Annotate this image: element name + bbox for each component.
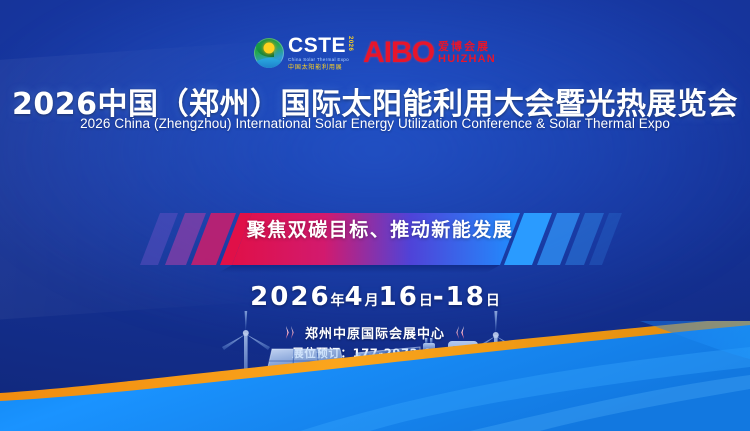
cste-english: China Solar Thermal Expo (288, 58, 353, 63)
bottom-swoosh-decoration (0, 321, 750, 431)
date-day-end-unit: 日 (486, 293, 500, 309)
date-month: 4 (345, 282, 365, 312)
aibo-wordmark: AIBO (363, 38, 434, 68)
page-title-english: 2026 China (Zhengzhou) International Sol… (0, 116, 750, 131)
aibo-logo[interactable]: AIBO 爱博会展 HUIZHAN (363, 38, 496, 68)
date-day-end: 18 (446, 282, 486, 312)
logo-row: CSTE 2026 China Solar Thermal Expo 中国太阳能… (0, 31, 750, 75)
poster-canvas: CSTE 2026 China Solar Thermal Expo 中国太阳能… (0, 0, 750, 431)
cste-logo-text: CSTE 2026 China Solar Thermal Expo 中国太阳能… (288, 35, 353, 71)
date-year-unit: 年 (331, 293, 345, 309)
cste-logo[interactable]: CSTE 2026 China Solar Thermal Expo 中国太阳能… (254, 35, 353, 71)
solar-sun-landscape-icon (254, 38, 284, 68)
date-day-unit: 日 (419, 293, 433, 309)
cste-chinese: 中国太阳能利用展 (288, 65, 353, 71)
date-month-unit: 月 (365, 293, 379, 309)
event-date: 2026年4月16日-18日 (0, 282, 750, 312)
aibo-english: HUIZHAN (438, 54, 496, 65)
slogan-text: 聚焦双碳目标、推动新能发展 (246, 206, 514, 250)
aibo-logo-side: 爱博会展 HUIZHAN (438, 41, 496, 65)
aibo-chinese: 爱博会展 (438, 41, 496, 52)
date-dash: - (433, 282, 446, 312)
cste-wordmark: CSTE (288, 35, 346, 56)
cste-year: 2026 (347, 36, 353, 51)
date-year: 2026 (250, 282, 330, 312)
date-day-start: 16 (379, 282, 419, 312)
